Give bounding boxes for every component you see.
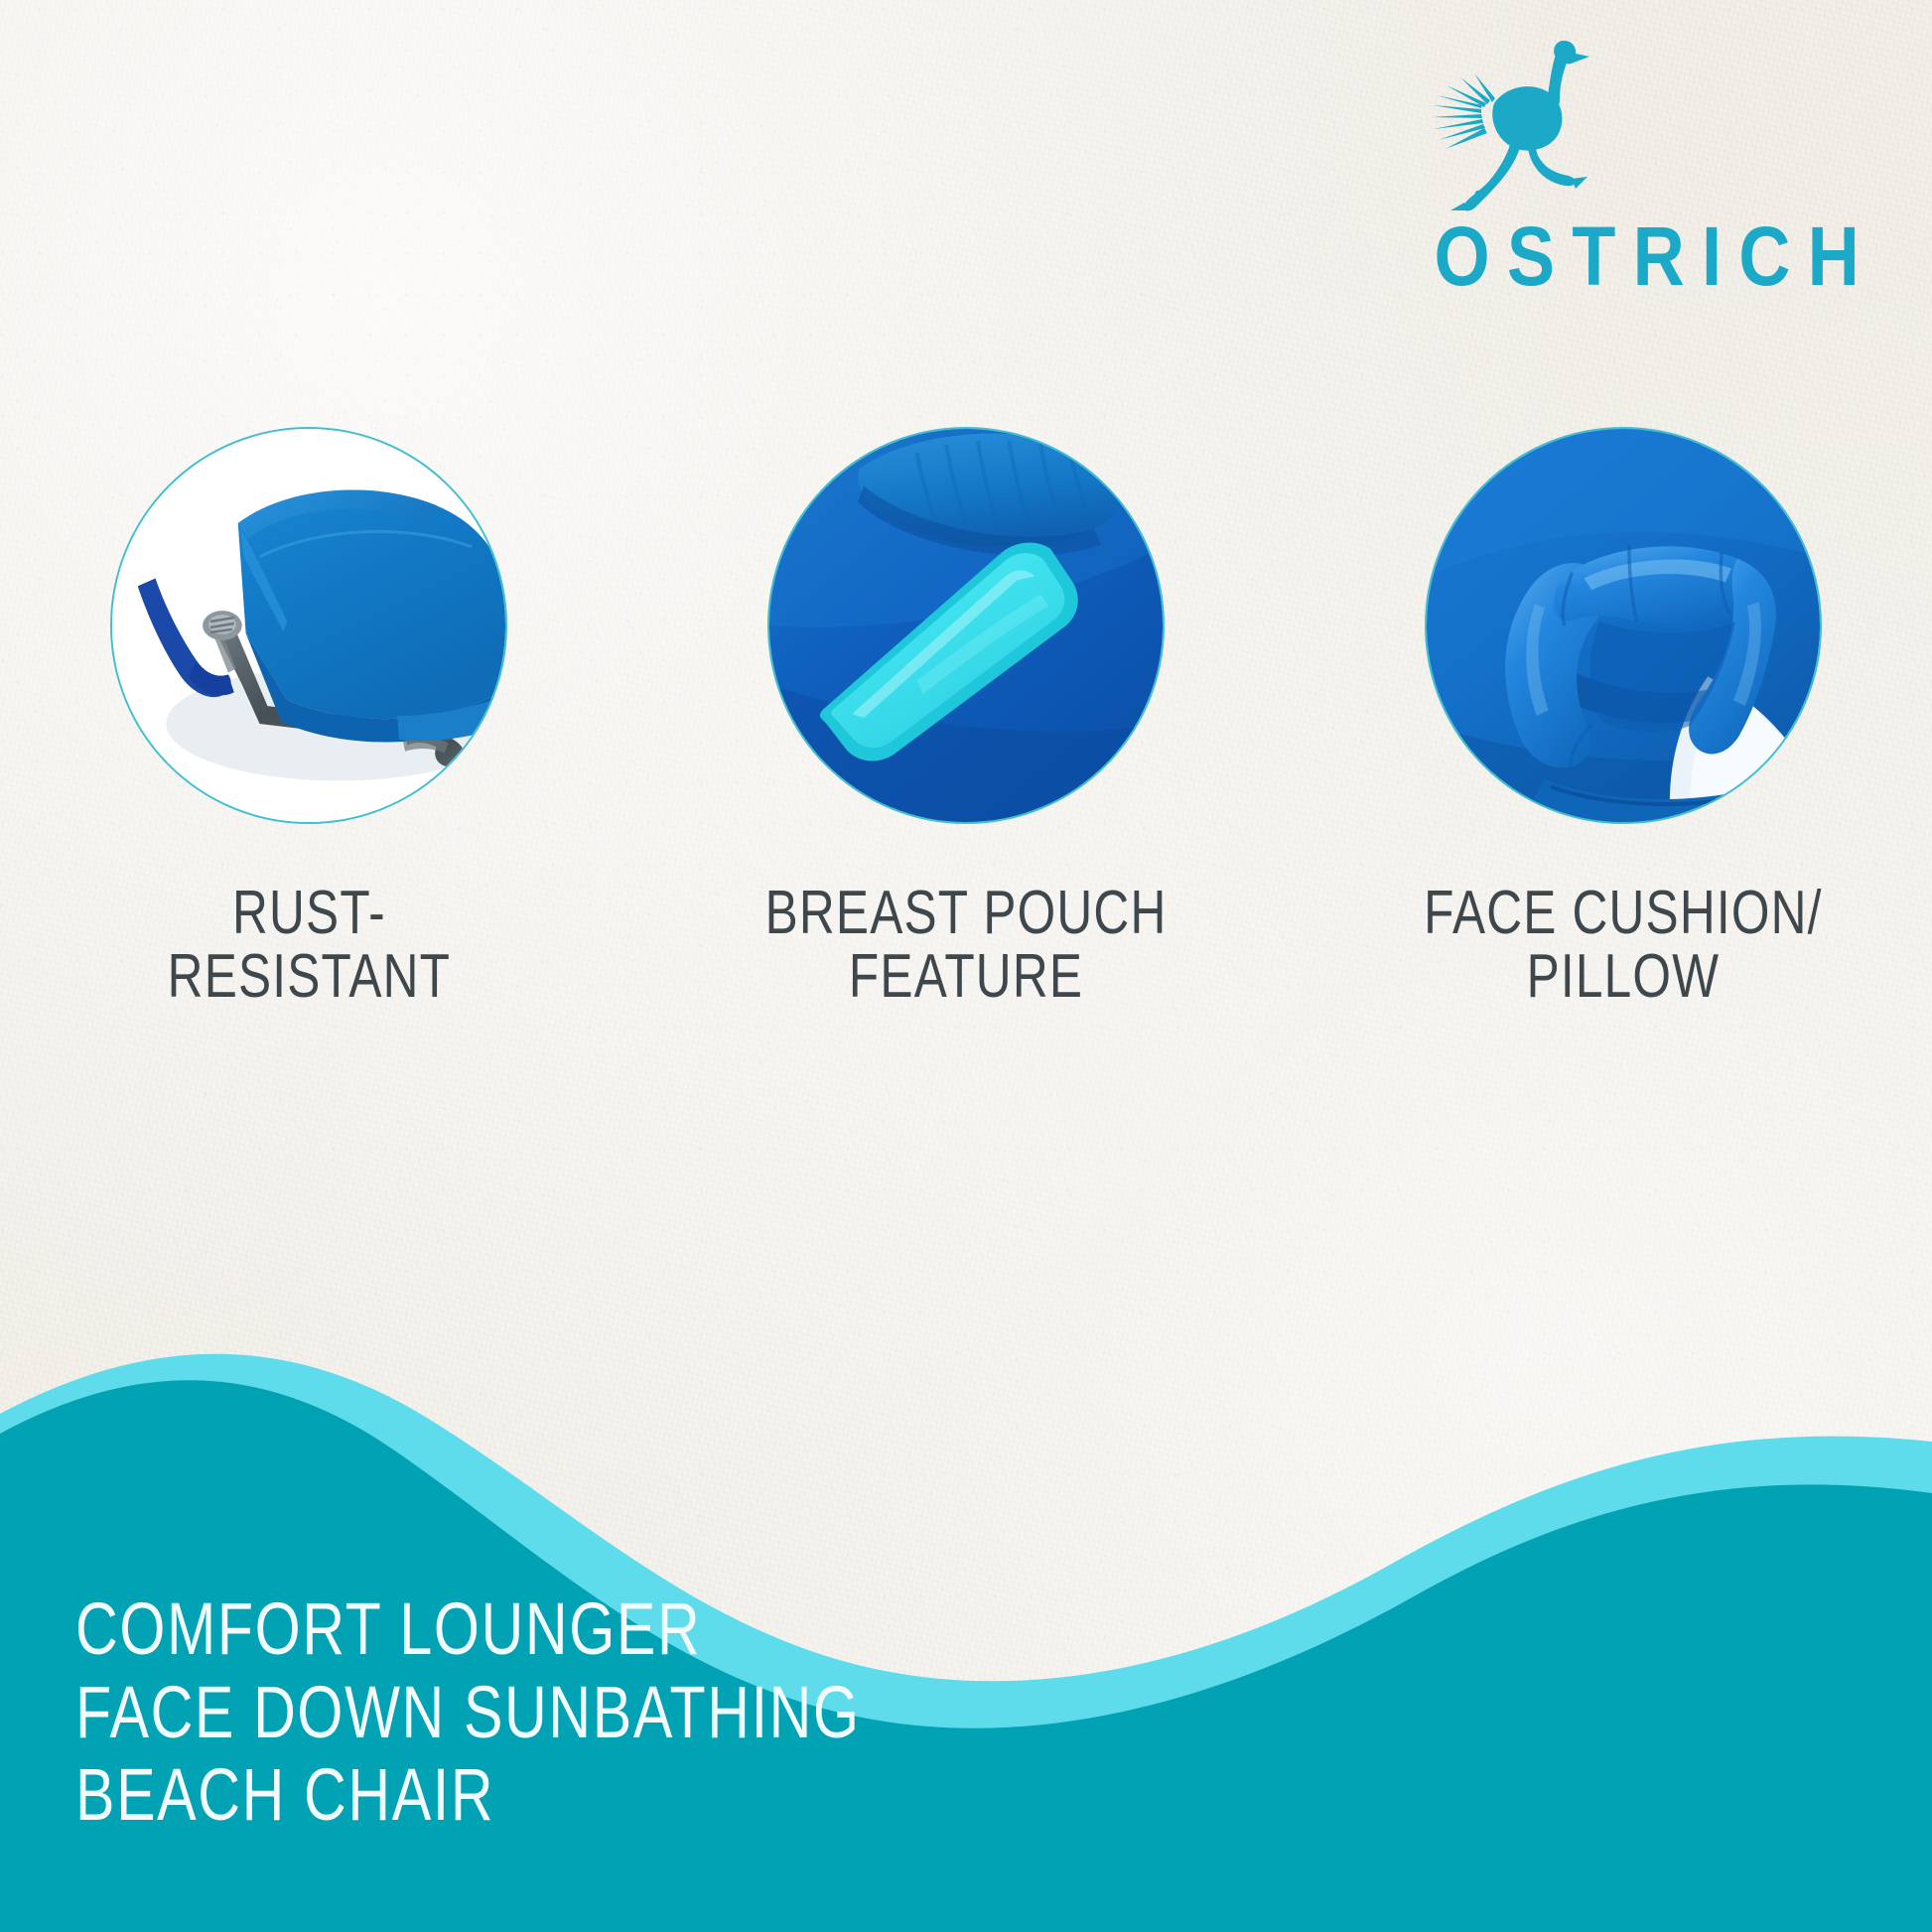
product-title: COMFORT LOUNGER FACE DOWN SUNBATHING BEA… (75, 1587, 861, 1837)
caption-line: RESISTANT (167, 945, 450, 1009)
feature-breast-pouch[interactable]: BREAST POUCH FEATURE (753, 427, 1179, 1162)
breast-pouch-photo (767, 427, 1165, 824)
brand-logo: OSTRICH (1082, 34, 1876, 292)
caption-line: PILLOW (1424, 945, 1822, 1009)
title-line: COMFORT LOUNGER (75, 1587, 861, 1671)
face-cushion-pillow-photo (1425, 427, 1822, 824)
title-line: BEACH CHAIR (75, 1753, 861, 1837)
feature-label-breast-pouch: BREAST POUCH FEATURE (765, 882, 1168, 1009)
feature-face-cushion[interactable]: FACE CUSHION/ PILLOW (1410, 427, 1837, 1162)
feature-row: RUST- RESISTANT (0, 427, 1932, 1162)
rust-resistant-photo (110, 427, 507, 824)
caption-line: FEATURE (765, 945, 1168, 1009)
caption-line: FACE CUSHION/ (1424, 882, 1822, 945)
feature-rust-resistant[interactable]: RUST- RESISTANT (95, 427, 522, 1162)
title-line: FACE DOWN SUNBATHING (75, 1671, 861, 1754)
caption-line: RUST- (167, 882, 450, 945)
caption-line: BREAST POUCH (765, 882, 1168, 945)
feature-label-rust-resistant: RUST- RESISTANT (167, 882, 450, 1009)
brand-wordmark: OSTRICH (1312, 214, 1876, 298)
feature-label-face-cushion: FACE CUSHION/ PILLOW (1424, 882, 1822, 1009)
ostrich-bird-icon (1425, 34, 1623, 212)
